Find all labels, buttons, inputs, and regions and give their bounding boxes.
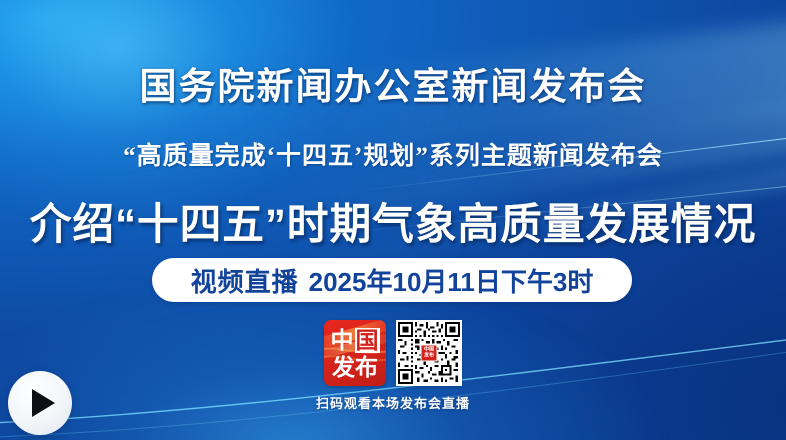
series-subtitle: “高质量完成‘十四五’规划”系列主题新闻发布会 <box>0 136 786 172</box>
qr-code[interactable]: 中国 发布 <box>396 320 462 386</box>
play-button[interactable] <box>8 371 72 435</box>
live-badge-label: 视频直播 <box>191 262 299 299</box>
live-broadcast-poster: 国务院新闻办公室新闻发布会 “高质量完成‘十四五’规划”系列主题新闻发布会 介绍… <box>0 0 786 440</box>
brand-row: 中国 发布 <box>0 320 786 386</box>
scan-instruction: 扫码观看本场发布会直播 <box>0 393 786 412</box>
logo-char-zhong: 中 <box>331 329 354 352</box>
poster-content: 国务院新闻办公室新闻发布会 “高质量完成‘十四五’规划”系列主题新闻发布会 介绍… <box>0 0 786 440</box>
china-release-logo: 中国 发布 <box>324 320 386 386</box>
logo-line-two: 发布 <box>332 356 378 379</box>
logo-line-one: 中国 <box>331 328 380 353</box>
logo-text: 中国 发布 <box>324 320 386 386</box>
qr-logo-line-two: 发布 <box>424 353 434 358</box>
play-icon <box>32 389 55 417</box>
live-schedule-pill: 视频直播 2025年10月11日下午3时 <box>152 258 632 302</box>
qr-center-logo: 中国 发布 <box>421 345 438 362</box>
broadcast-datetime: 2025年10月11日下午3时 <box>309 262 594 299</box>
page-title: 国务院新闻办公室新闻发布会 <box>0 56 786 110</box>
topic-headline: 介绍“十四五”时期气象高质量发展情况 <box>12 190 774 252</box>
logo-char-guo: 国 <box>355 328 380 353</box>
